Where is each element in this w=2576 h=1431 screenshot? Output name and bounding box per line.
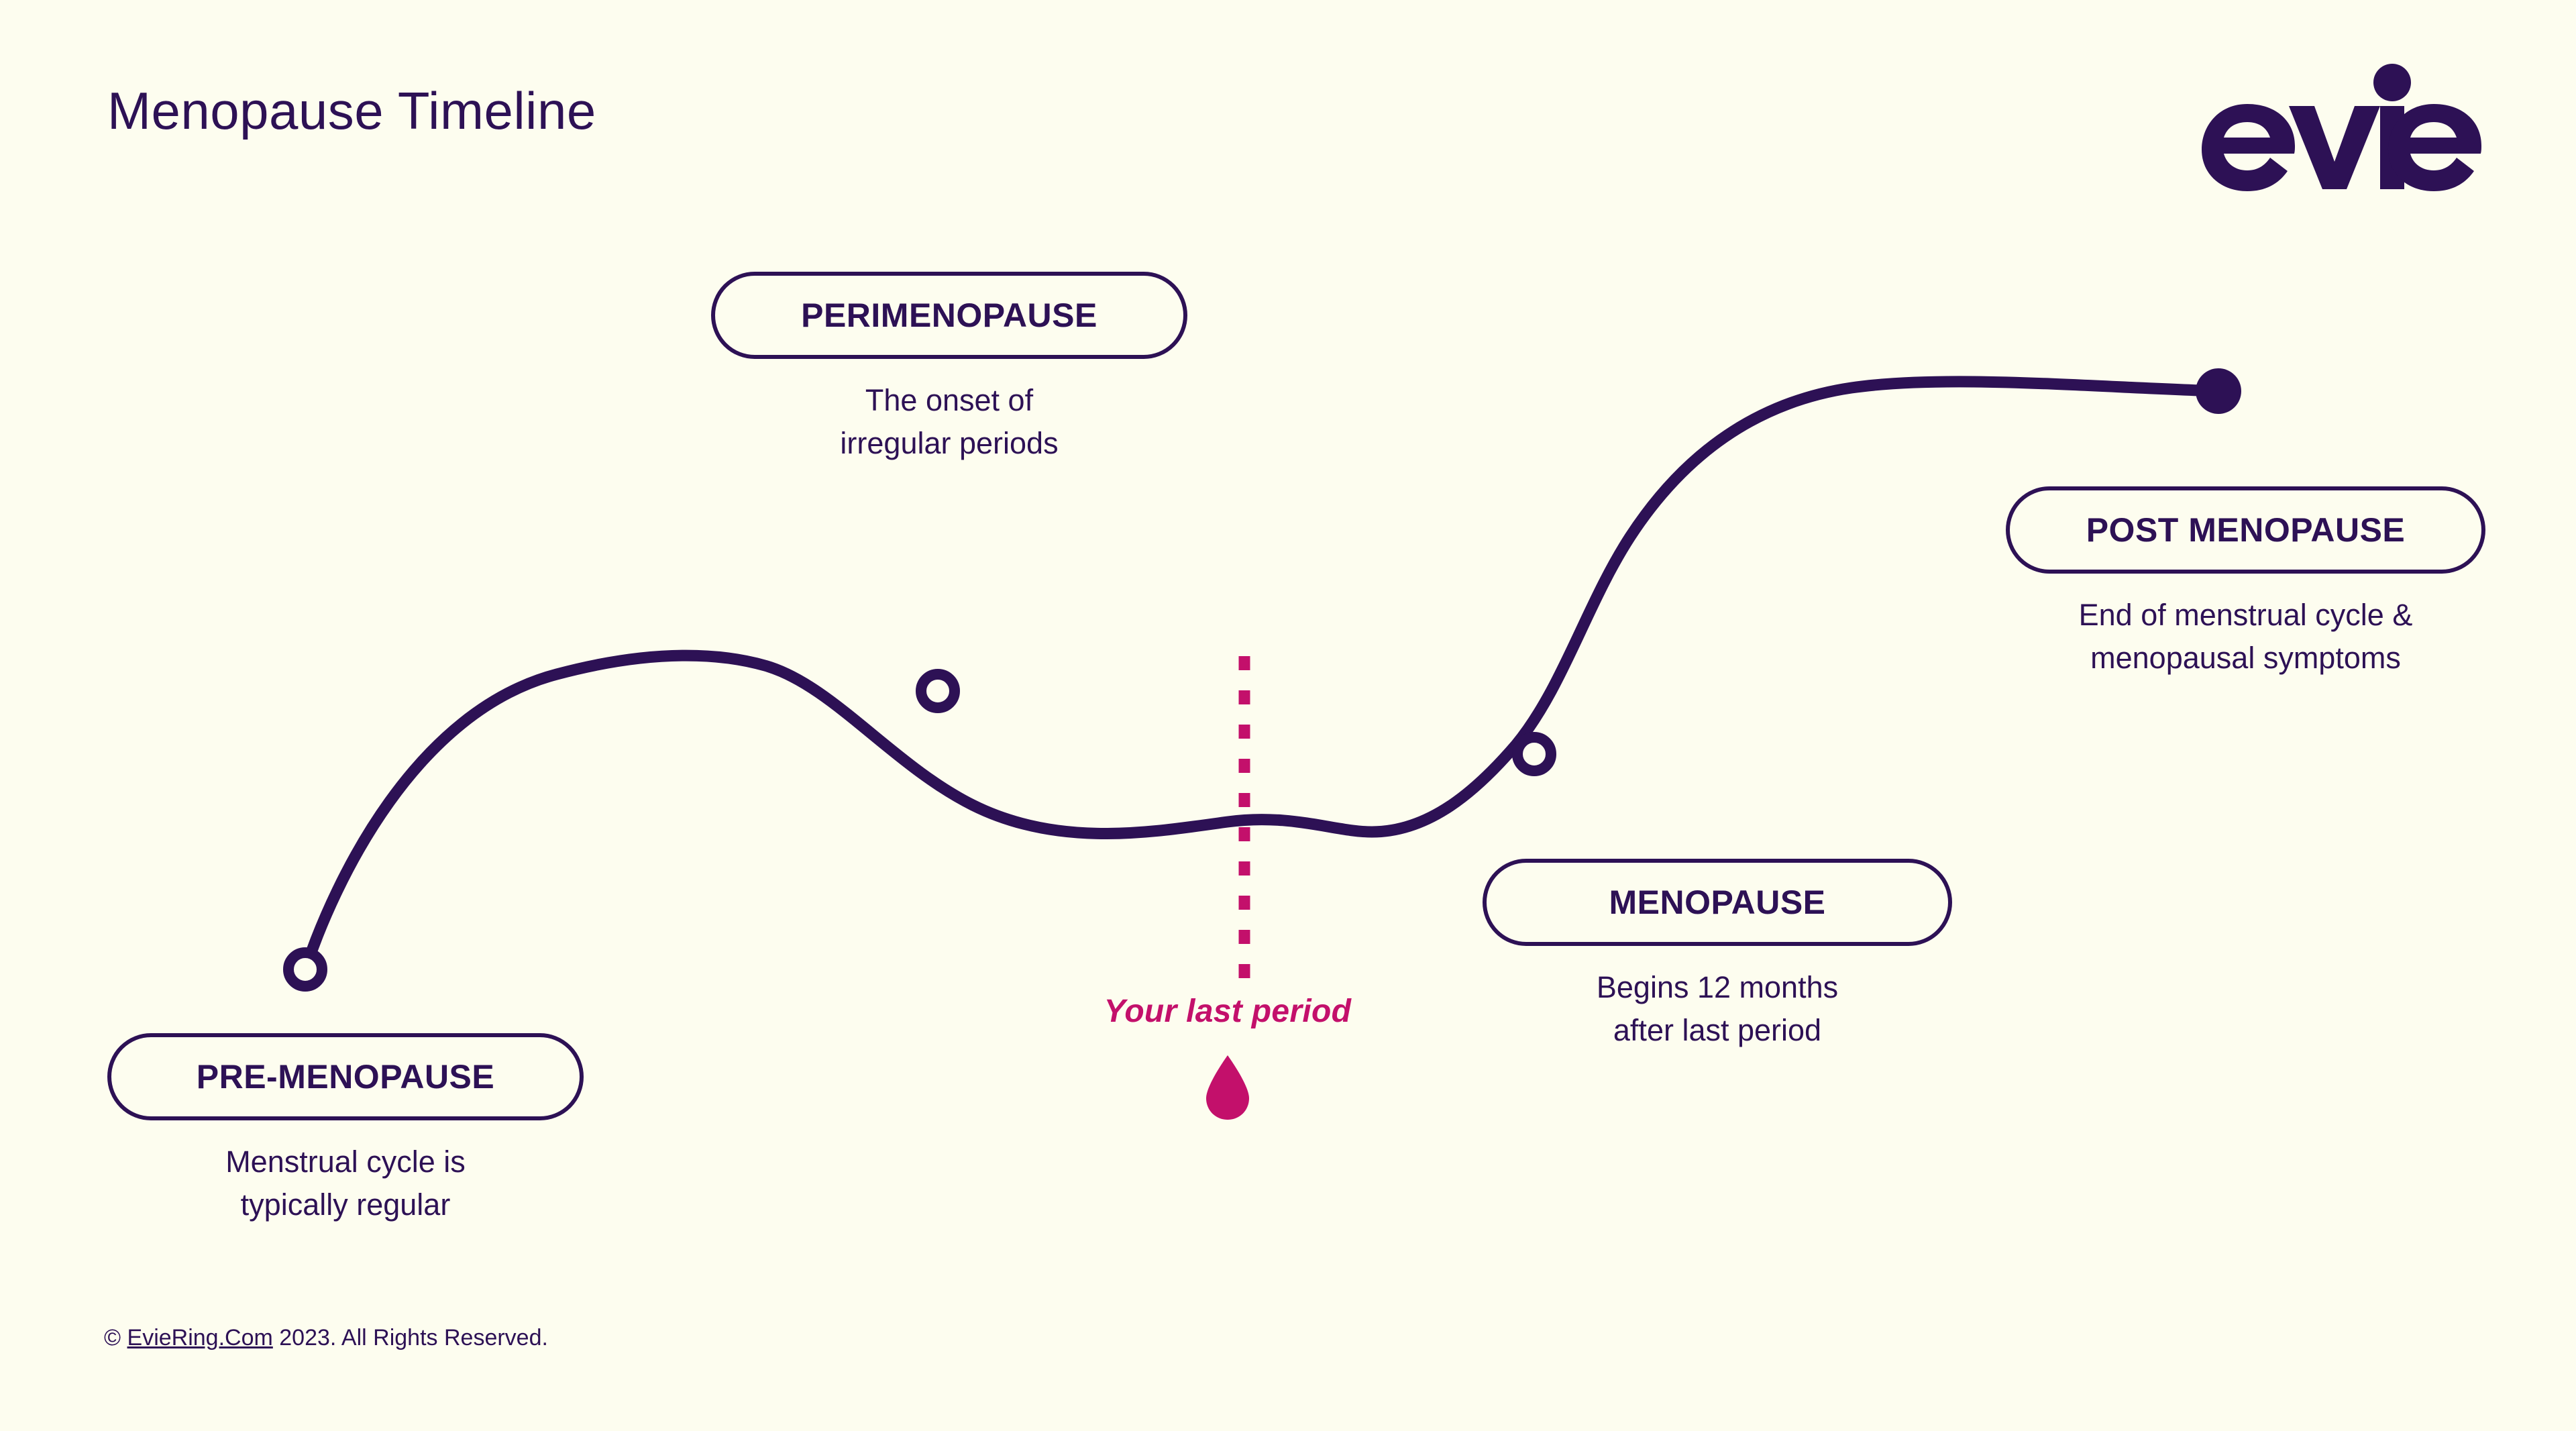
stage-description-menopause: Begins 12 months after last period — [1597, 966, 1838, 1052]
page-title: Menopause Timeline — [107, 81, 596, 142]
stage-menopause: MENOPAUSE Begins 12 months after last pe… — [1483, 859, 1952, 1052]
footer-link-eviering[interactable]: EvieRing.Com — [127, 1325, 273, 1350]
last-period-annotation: Your last period — [1073, 993, 1382, 1120]
stage-description-perimenopause: The onset of irregular periods — [840, 379, 1058, 465]
stage-perimenopause: PERIMENOPAUSE The onset of irregular per… — [711, 272, 1187, 465]
stage-description-post-menopause: End of menstrual cycle & menopausal symp… — [2079, 594, 2413, 680]
stage-pre-menopause: PRE-MENOPAUSE Menstrual cycle is typical… — [101, 1033, 590, 1226]
stage-badge-perimenopause[interactable]: PERIMENOPAUSE — [711, 272, 1187, 359]
stage-post-menopause: POST MENOPAUSE End of menstrual cycle & … — [2006, 486, 2485, 680]
evie-logo — [2200, 64, 2482, 191]
stage-badge-menopause[interactable]: MENOPAUSE — [1483, 859, 1952, 946]
marker-menopause[interactable] — [1517, 737, 1551, 771]
infographic-canvas: Menopause Timeline PRE-MEN — [0, 0, 2576, 1431]
stage-badge-post-menopause[interactable]: POST MENOPAUSE — [2006, 486, 2485, 574]
footer-rights-text: 2023. All Rights Reserved. — [273, 1325, 548, 1350]
stage-badge-pre-menopause[interactable]: PRE-MENOPAUSE — [107, 1033, 584, 1120]
marker-post-menopause[interactable] — [2196, 368, 2241, 414]
marker-perimenopause[interactable] — [921, 674, 955, 708]
copyright-symbol: © — [104, 1325, 121, 1350]
marker-pre-menopause[interactable] — [288, 953, 322, 986]
stage-description-pre-menopause: Menstrual cycle is typically regular — [225, 1141, 466, 1226]
last-period-label: Your last period — [1104, 993, 1351, 1030]
blood-drop-icon — [1205, 1055, 1250, 1120]
footer-copyright: © EvieRing.Com 2023. All Rights Reserved… — [104, 1325, 548, 1351]
